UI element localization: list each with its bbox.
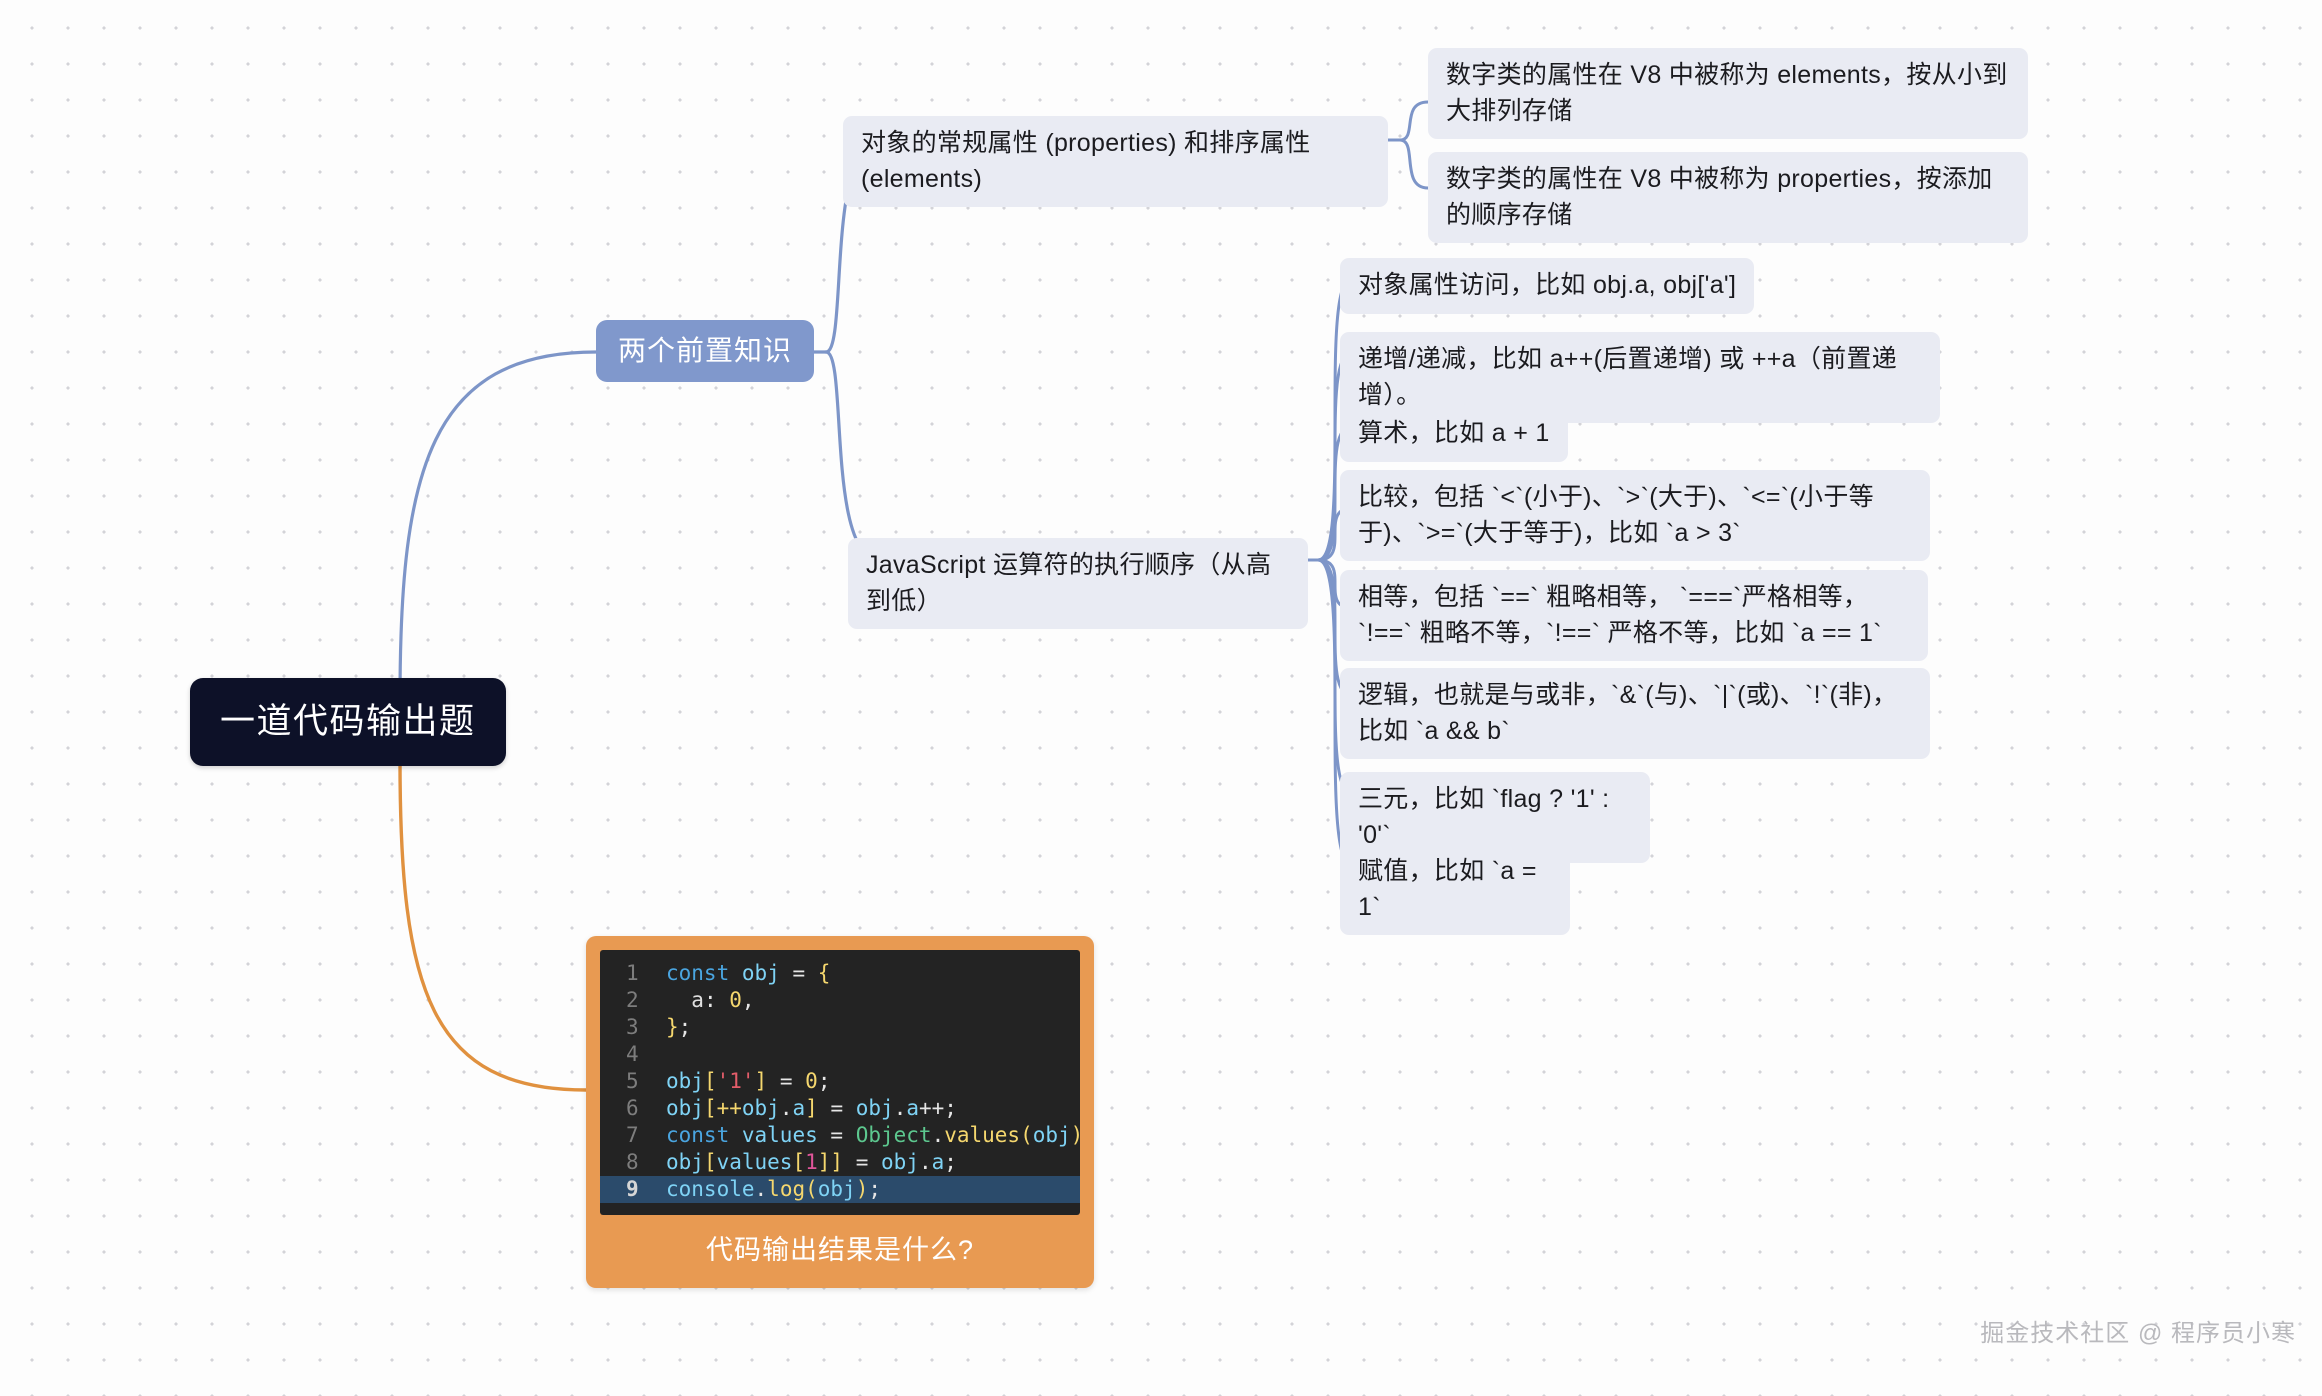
code-line-number: 8: [600, 1149, 662, 1176]
code-card[interactable]: 1 const obj = { 2 a: 0, 3 }; 4 5 obj['1'…: [586, 936, 1094, 1288]
root-node[interactable]: 一道代码输出题: [190, 678, 506, 766]
leaf-operator-arithmetic[interactable]: 算术，比如 a + 1: [1340, 406, 1568, 462]
code-line-source: obj[values[1]] = obj.a;: [662, 1149, 957, 1176]
code-line-highlighted: 9 console.log(obj);: [600, 1176, 1080, 1203]
code-line-number: 1: [600, 960, 662, 987]
leaf-operator-assignment-label: 赋值，比如 `a = 1`: [1358, 854, 1552, 925]
branch-node-prerequisites[interactable]: 两个前置知识: [596, 320, 814, 382]
leaf-operator-comparison-label: 比较，包括 `<`(小于)、`>`(大于)、`<=`(小于等于)、`>=`(大于…: [1358, 480, 1912, 551]
code-line-source: [662, 1041, 679, 1068]
code-line-source: obj[++obj.a] = obj.a++;: [662, 1095, 957, 1122]
code-line-number: 4: [600, 1041, 662, 1068]
code-line-source: };: [662, 1014, 691, 1041]
code-line-source: a: 0,: [662, 987, 755, 1014]
root-node-label: 一道代码输出题: [220, 700, 476, 744]
code-window[interactable]: 1 const obj = { 2 a: 0, 3 }; 4 5 obj['1'…: [600, 950, 1080, 1215]
code-line-source: console.log(obj);: [662, 1176, 881, 1203]
leaf-properties-storage-label: 数字类的属性在 V8 中被称为 properties，按添加的顺序存储: [1446, 162, 2010, 233]
leaf-elements-storage[interactable]: 数字类的属性在 V8 中被称为 elements，按从小到大排列存储: [1428, 48, 2028, 139]
connector-prop-child-0: [1400, 102, 1428, 140]
code-line-number: 5: [600, 1068, 662, 1095]
mindmap-canvas: 一道代码输出题 两个前置知识 对象的常规属性 (properties) 和排序属…: [0, 0, 2322, 1396]
connector-branch-to-operators: [826, 352, 880, 560]
branch-node-label: 两个前置知识: [618, 333, 792, 369]
code-line: 4: [600, 1041, 1080, 1068]
code-line-number: 2: [600, 987, 662, 1014]
leaf-operator-logical-label: 逻辑，也就是与或非，`&`(与)、`|`(或)、`!`(非)，比如 `a && …: [1358, 678, 1912, 749]
code-line-source: const obj = {: [662, 960, 830, 987]
code-line-number: 9: [600, 1176, 662, 1203]
leaf-operator-member-access[interactable]: 对象属性访问，比如 obj.a, obj['a']: [1340, 258, 1754, 314]
leaf-operator-increment-label: 递增/递减，比如 a++(后置递增) 或 ++a（前置递增）。: [1358, 342, 1922, 413]
connector-prop-child-1: [1400, 140, 1428, 188]
leaf-operator-member-access-label: 对象属性访问，比如 obj.a, obj['a']: [1358, 268, 1736, 304]
code-line-number: 7: [600, 1122, 662, 1149]
code-line: 5 obj['1'] = 0;: [600, 1068, 1080, 1095]
leaf-properties-storage[interactable]: 数字类的属性在 V8 中被称为 properties，按添加的顺序存储: [1428, 152, 2028, 243]
code-line: 7 const values = Object.values(obj);: [600, 1122, 1080, 1149]
code-line: 3 };: [600, 1014, 1080, 1041]
watermark: 掘金技术社区 @ 程序员小寒: [1980, 1313, 2296, 1348]
code-line-source: obj['1'] = 0;: [662, 1068, 830, 1095]
subtopic-properties-elements[interactable]: 对象的常规属性 (properties) 和排序属性 (elements): [843, 116, 1388, 207]
code-card-caption: 代码输出结果是什么?: [600, 1215, 1080, 1288]
code-line-source: const values = Object.values(obj);: [662, 1122, 1080, 1149]
code-line: 6 obj[++obj.a] = obj.a++;: [600, 1095, 1080, 1122]
leaf-operator-logical[interactable]: 逻辑，也就是与或非，`&`(与)、`|`(或)、`!`(非)，比如 `a && …: [1340, 668, 1930, 759]
code-line-number: 6: [600, 1095, 662, 1122]
leaf-operator-equality-label: 相等，包括 `==` 粗略相等， `===`严格相等，`!==` 粗略不等，`!…: [1358, 580, 1910, 651]
watermark-text: 掘金技术社区 @ 程序员小寒: [1980, 1320, 2296, 1347]
subtopic-properties-elements-label: 对象的常规属性 (properties) 和排序属性 (elements): [861, 126, 1370, 197]
code-line: 1 const obj = {: [600, 960, 1080, 987]
leaf-elements-storage-label: 数字类的属性在 V8 中被称为 elements，按从小到大排列存储: [1446, 58, 2010, 129]
connector-root-to-branch: [400, 352, 596, 700]
leaf-operator-comparison[interactable]: 比较，包括 `<`(小于)、`>`(大于)、`<=`(小于等于)、`>=`(大于…: [1340, 470, 1930, 561]
leaf-operator-equality[interactable]: 相等，包括 `==` 粗略相等， `===`严格相等，`!==` 粗略不等，`!…: [1340, 570, 1928, 661]
leaf-operator-ternary-label: 三元，比如 `flag ? '1' : '0'`: [1358, 782, 1632, 853]
leaf-operator-arithmetic-label: 算术，比如 a + 1: [1358, 416, 1550, 452]
subtopic-operator-precedence-label: JavaScript 运算符的执行顺序（从高到低）: [866, 548, 1290, 619]
leaf-operator-assignment[interactable]: 赋值，比如 `a = 1`: [1340, 844, 1570, 935]
connector-root-to-code: [400, 760, 586, 1090]
code-line: 8 obj[values[1]] = obj.a;: [600, 1149, 1080, 1176]
code-line-number: 3: [600, 1014, 662, 1041]
code-line: 2 a: 0,: [600, 987, 1080, 1014]
subtopic-operator-precedence[interactable]: JavaScript 运算符的执行顺序（从高到低）: [848, 538, 1308, 629]
